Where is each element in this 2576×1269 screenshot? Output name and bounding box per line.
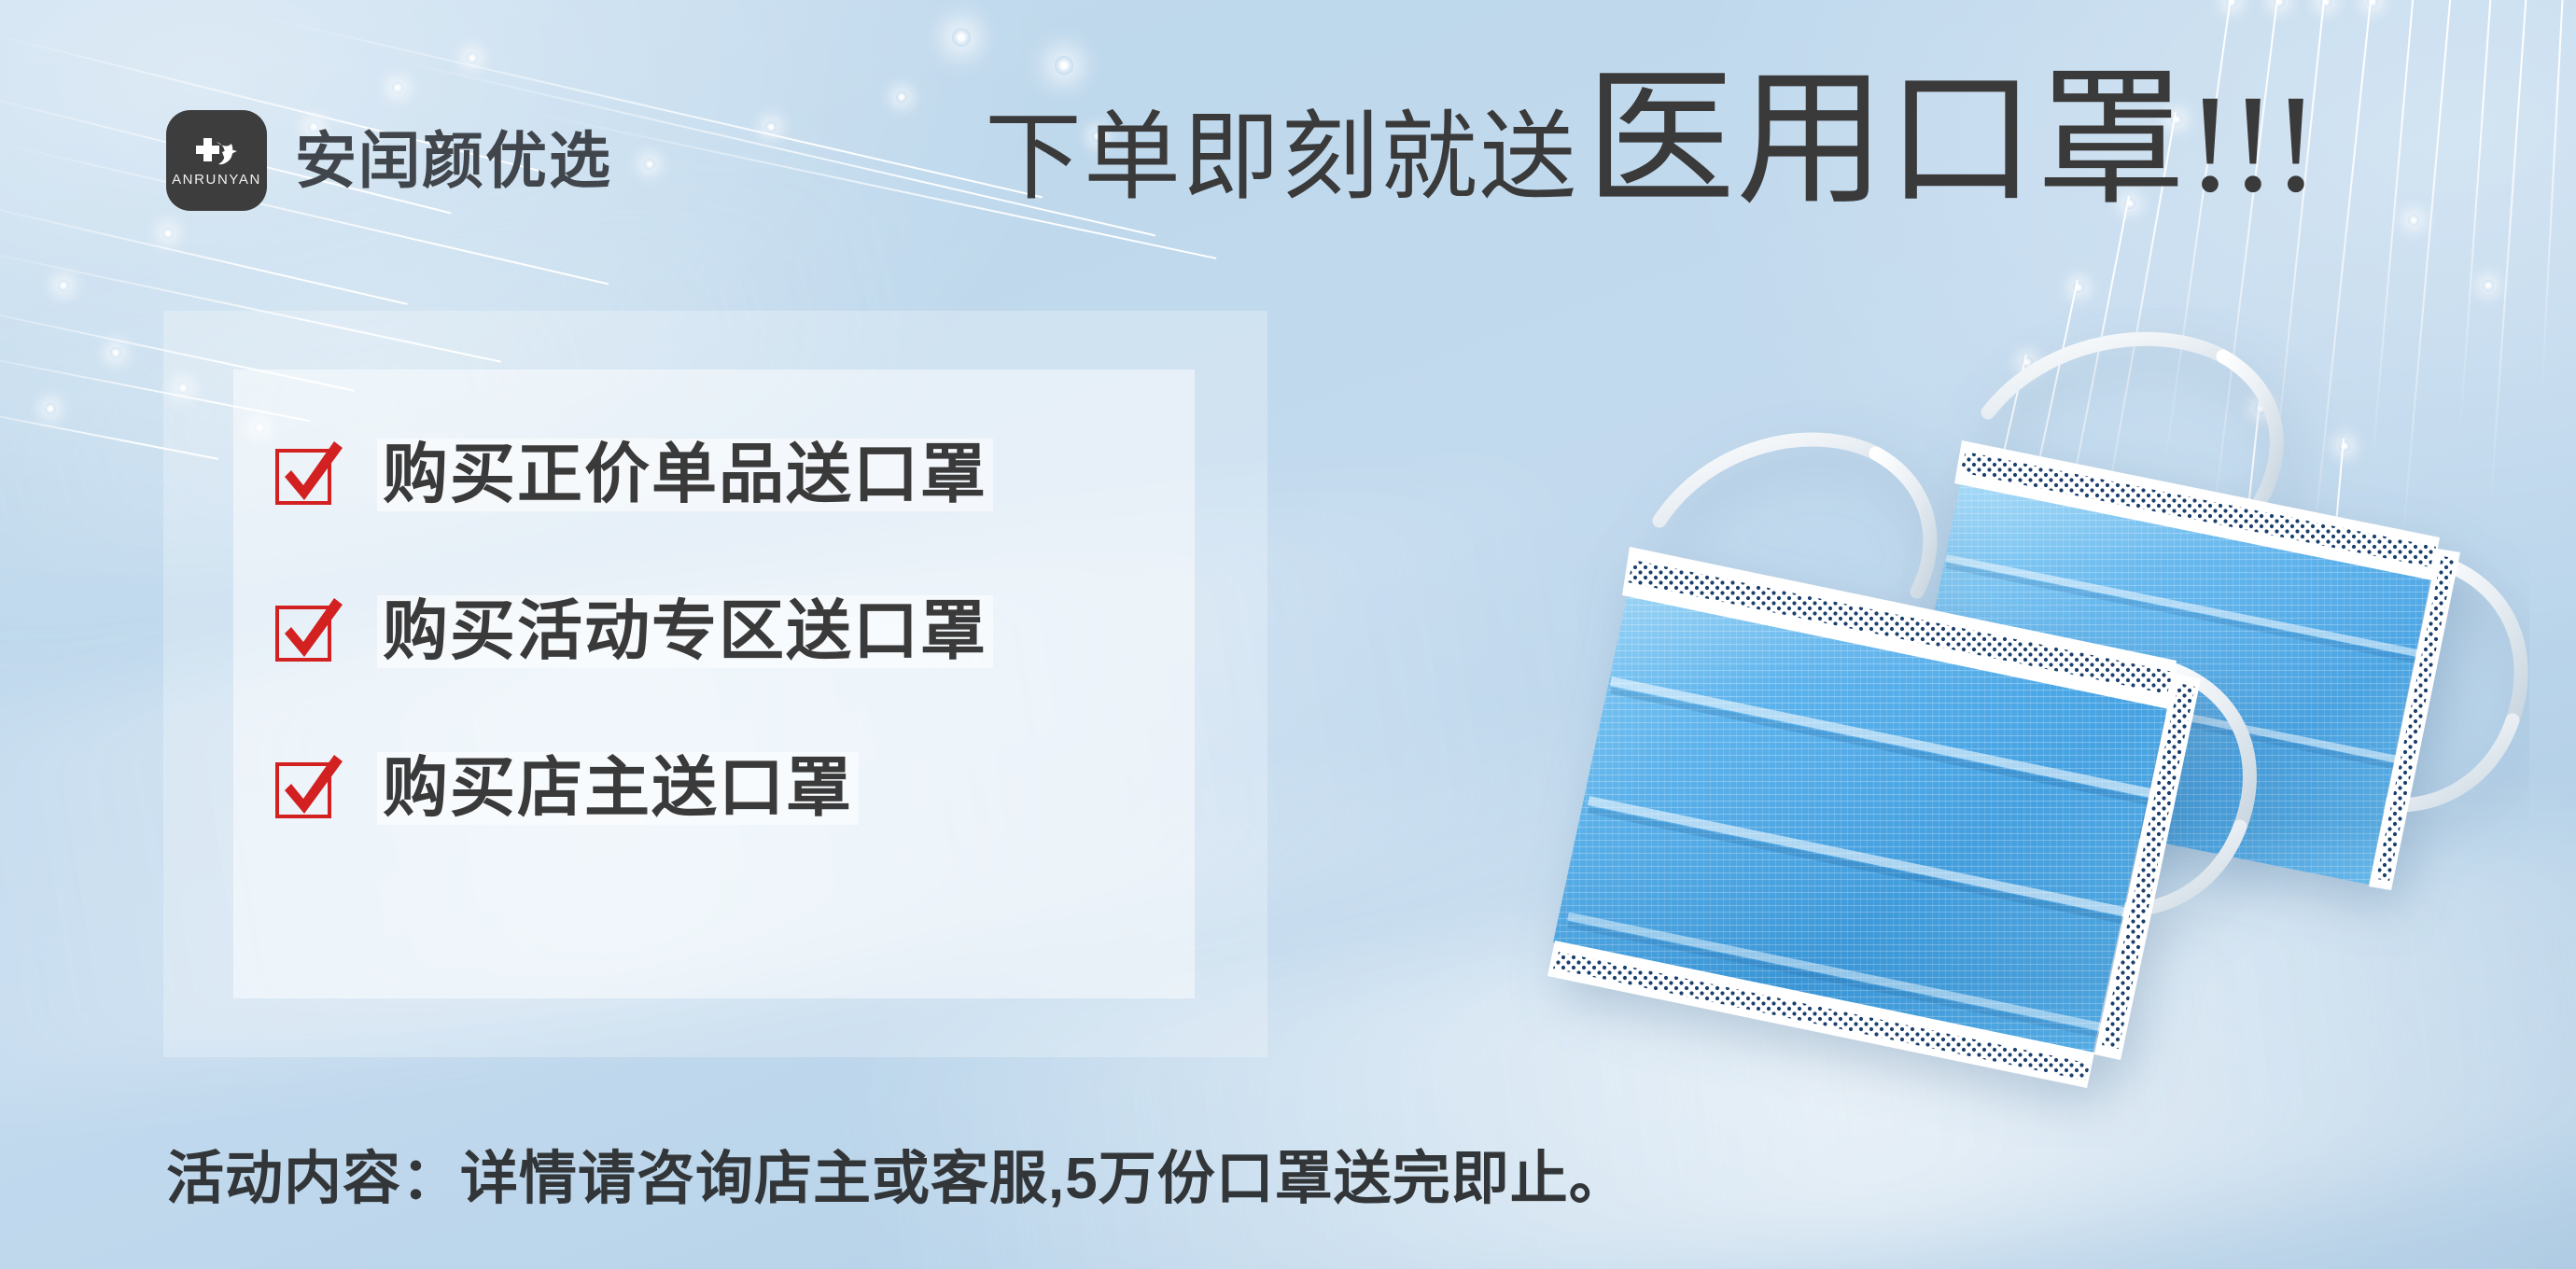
checked-checkbox-icon <box>273 439 345 511</box>
brand-logo-tile: ANRUNYAN <box>166 110 267 211</box>
medical-cross-leaf-icon <box>190 134 243 170</box>
checklist-item-label: 购买活动专区送口罩 <box>377 595 993 668</box>
checklist-item-label: 购买店主送口罩 <box>377 752 859 825</box>
headline: 下单即刻就送 医用口罩 !!! <box>985 65 2316 215</box>
promo-banner: ANRUNYAN 安闰颜优选 下单即刻就送 医用口罩 !!! <box>0 0 2576 1269</box>
product-image-masks <box>1335 308 2529 1148</box>
checklist-item: 购买店主送口罩 <box>273 752 1206 825</box>
mask-front <box>1547 439 2249 1088</box>
campaign-terms-note: 活动内容：详情请咨询店主或客服,5万份口罩送完即止。 <box>166 1131 1628 1215</box>
surgical-masks-illustration <box>1335 308 2529 1148</box>
brand-name: 安闰颜优选 <box>295 130 612 191</box>
checklist-item: 购买活动专区送口罩 <box>273 595 1206 668</box>
headline-exclamations: !!! <box>2187 74 2316 214</box>
checklist-item-label: 购买正价单品送口罩 <box>377 439 993 511</box>
checked-checkbox-icon <box>273 595 345 668</box>
headline-emphasis: 医用口罩 <box>1586 65 2187 215</box>
checked-checkbox-icon <box>273 752 345 825</box>
benefits-checklist: 购买正价单品送口罩 购买活动专区送口罩 购买店主送口罩 <box>273 439 1206 825</box>
brand-logo-wordmark: ANRUNYAN <box>172 173 261 187</box>
mask-back <box>1898 339 2521 890</box>
checklist-item: 购买正价单品送口罩 <box>273 439 1206 511</box>
headline-lead: 下单即刻就送 <box>985 110 1578 207</box>
brand-lockup: ANRUNYAN 安闰颜优选 <box>166 110 612 211</box>
